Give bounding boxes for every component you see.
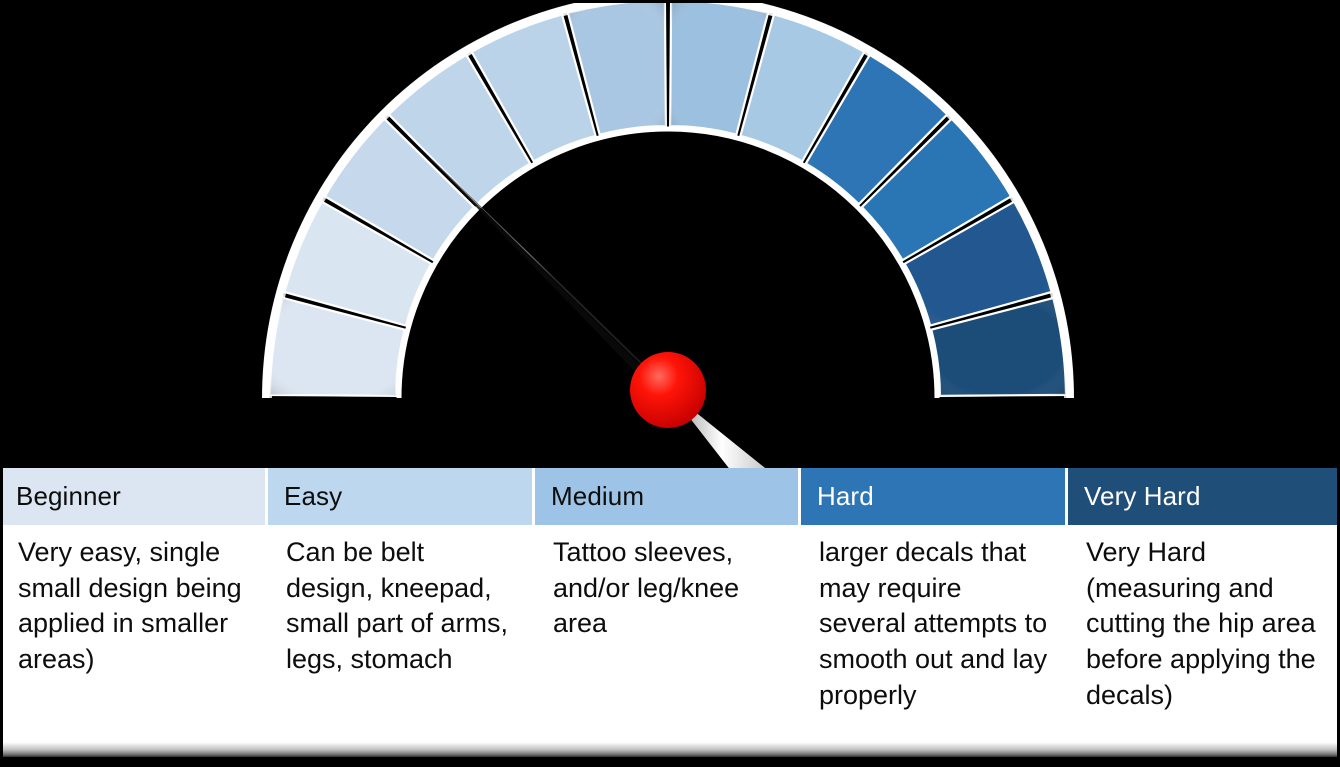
body-cell-beginner: Very easy, single small design being app… xyxy=(0,525,268,758)
gauge-svg xyxy=(0,0,1340,470)
gauge-segment-separators xyxy=(266,0,1070,398)
header-cell-medium[interactable]: Medium xyxy=(535,468,801,525)
body-cell-hard: larger decals that may require several a… xyxy=(801,525,1068,758)
header-cell-beginner[interactable]: Beginner xyxy=(0,468,268,525)
slide-canvas: Beginner Easy Medium Hard Very Hard Very… xyxy=(0,0,1340,767)
header-label-hard: Hard xyxy=(817,482,874,511)
difficulty-legend-table: Beginner Easy Medium Hard Very Hard Very… xyxy=(0,468,1340,758)
header-label-medium: Medium xyxy=(551,482,644,511)
header-label-easy: Easy xyxy=(284,482,342,511)
gauge-graphic xyxy=(0,0,1340,470)
header-cell-easy[interactable]: Easy xyxy=(268,468,535,525)
gauge-pivot xyxy=(630,352,706,428)
table-body-row: Very easy, single small design being app… xyxy=(0,525,1340,758)
slide-frame-left xyxy=(0,0,3,767)
body-cell-very-hard: Very Hard (measuring and cutting the hip… xyxy=(1068,525,1340,758)
header-cell-very-hard[interactable]: Very Hard xyxy=(1068,468,1340,525)
slide-frame-top xyxy=(0,0,1340,3)
body-cell-medium: Tattoo sleeves, and/or leg/knee area xyxy=(535,525,801,758)
header-label-very-hard: Very Hard xyxy=(1084,482,1201,511)
header-label-beginner: Beginner xyxy=(16,482,121,511)
body-cell-easy: Can be belt design, kneepad, small part … xyxy=(268,525,535,758)
header-cell-hard[interactable]: Hard xyxy=(801,468,1068,525)
slide-bottom-margin xyxy=(0,757,1340,767)
table-header-row: Beginner Easy Medium Hard Very Hard xyxy=(0,468,1340,525)
